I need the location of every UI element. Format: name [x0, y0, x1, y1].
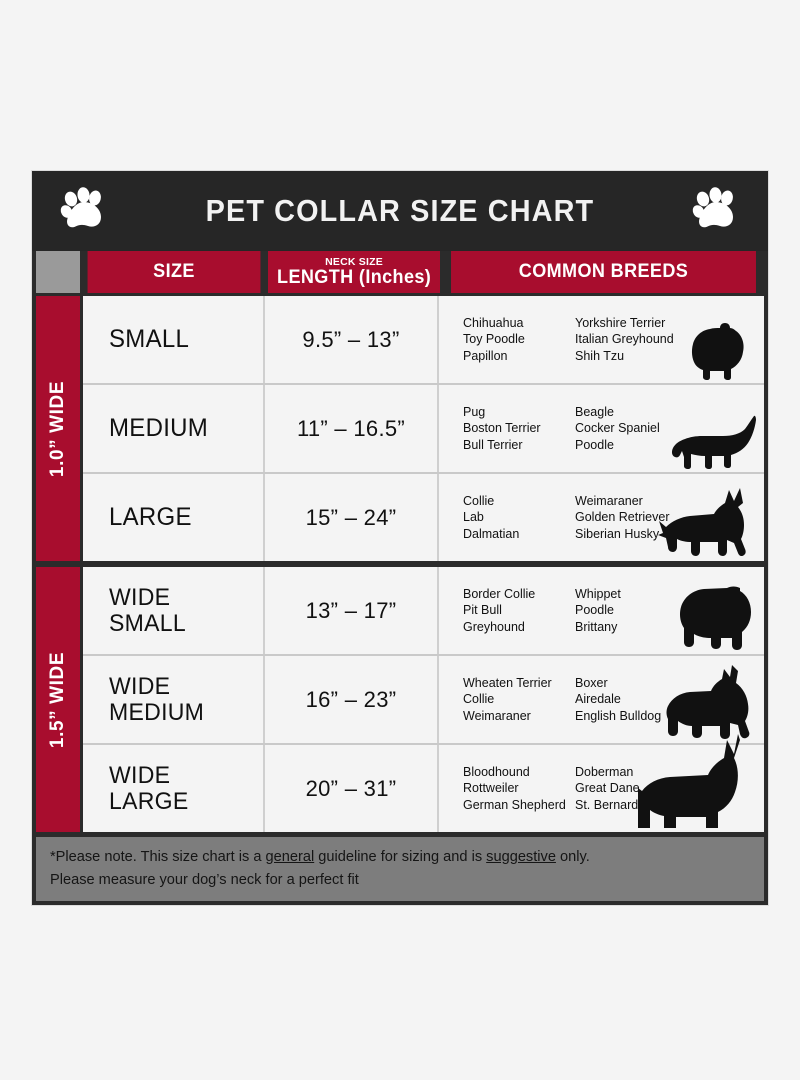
breed-item: English Bulldog [575, 708, 661, 725]
size-label-line: MEDIUM [109, 700, 204, 726]
cell-common-breeds: CollieLabDalmatianWeimaranerGolden Retri… [439, 474, 764, 561]
column-header-length: NECK SIZE LENGTH (Inches) [268, 251, 440, 293]
cell-neck-length: 15” – 24” [265, 474, 439, 561]
breed-item: Collie [463, 493, 575, 510]
breed-item: Papillon [463, 348, 575, 365]
cell-neck-length: 20” – 31” [265, 745, 439, 832]
breed-list: PugBoston TerrierBull Terrier [463, 404, 575, 454]
breed-item: Pug [463, 404, 575, 421]
breed-item: Great Dane [575, 780, 640, 797]
size-label-line: SMALL [109, 611, 186, 637]
size-label-line: WIDE [109, 585, 170, 611]
breed-item: German Shepherd [463, 797, 575, 814]
breed-item: Poodle [575, 602, 621, 619]
table-row: LARGE15” – 24”CollieLabDalmatianWeimaran… [83, 474, 764, 561]
breed-item: Collie [463, 691, 575, 708]
table-row: SMALL9.5” – 13”ChihuahuaToy PoodlePapill… [83, 296, 764, 385]
header-corner-cell [36, 251, 80, 293]
breed-list: ChihuahuaToy PoodlePapillon [463, 315, 575, 365]
paw-print-icon [58, 185, 110, 235]
breed-item: Shih Tzu [575, 348, 674, 365]
doberman-silhouette [638, 732, 758, 832]
breed-item: Dalmatian [463, 526, 575, 543]
group-width-label: 1.5” WIDE [36, 567, 80, 832]
breed-item: Whippet [575, 586, 621, 603]
breed-item: Yorkshire Terrier [575, 315, 674, 332]
cell-neck-length: 9.5” – 13” [265, 296, 439, 383]
footer-text-b: guideline for sizing and is [314, 849, 486, 865]
column-header-length-label: LENGTH (Inches) [277, 268, 431, 288]
size-label-line: WIDE [109, 674, 170, 700]
breed-item: Boston Terrier [463, 420, 575, 437]
cell-common-breeds: PugBoston TerrierBull TerrierBeagleCocke… [439, 385, 764, 472]
footer-underline-suggestive: suggestive [486, 849, 556, 865]
paw-print-icon [690, 185, 742, 235]
group-rows: WIDESMALL13” – 17”Border ColliePit BullG… [83, 567, 764, 832]
bulldog-silhouette [670, 580, 758, 654]
chart-header: PET COLLAR SIZE CHART [32, 171, 768, 251]
table-row: WIDELARGE20” – 31”BloodhoundRottweilerGe… [83, 745, 764, 832]
cell-common-breeds: BloodhoundRottweilerGerman ShepherdDober… [439, 745, 764, 832]
breed-item: Poodle [575, 437, 660, 454]
breed-item: Doberman [575, 764, 640, 781]
breed-list: CollieLabDalmatian [463, 493, 575, 543]
group-width-label: 1.0” WIDE [36, 296, 80, 561]
cell-neck-length: 13” – 17” [265, 567, 439, 654]
footer-note: *Please note. This size chart is a gener… [36, 837, 764, 901]
shepherd-silhouette [654, 485, 758, 561]
cell-common-breeds: Wheaten TerrierCollieWeimaranerBoxerAire… [439, 656, 764, 743]
table-body: 1.0” WIDESMALL9.5” – 13”ChihuahuaToy Poo… [32, 296, 768, 832]
size-label-line: MEDIUM [109, 415, 208, 442]
breed-item: Boxer [575, 675, 661, 692]
breed-item: Rottweiler [463, 780, 575, 797]
table-row: MEDIUM11” – 16.5”PugBoston TerrierBull T… [83, 385, 764, 474]
group-width-label-text: 1.5” WIDE [47, 651, 69, 747]
breed-item: St. Bernard [575, 797, 640, 814]
size-group-1: 1.0” WIDESMALL9.5” – 13”ChihuahuaToy Poo… [36, 296, 764, 561]
breed-list: DobermanGreat DaneSt. Bernard [575, 764, 640, 814]
breed-item: Pit Bull [463, 602, 575, 619]
cell-size: SMALL [83, 296, 265, 383]
cell-size: MEDIUM [83, 385, 265, 472]
breed-item: Bull Terrier [463, 437, 575, 454]
size-chart-card: PET COLLAR SIZE CHART SIZE NECK SIZE LEN… [31, 170, 769, 906]
cell-neck-length: 16” – 23” [265, 656, 439, 743]
size-label-line: LARGE [109, 789, 189, 815]
breed-list: BeagleCocker SpanielPoodle [575, 404, 660, 454]
cell-size: WIDELARGE [83, 745, 265, 832]
breed-list: WhippetPoodleBrittany [575, 586, 621, 636]
size-group-2: 1.5” WIDEWIDESMALL13” – 17”Border Collie… [36, 567, 764, 832]
breed-item: Toy Poodle [463, 331, 575, 348]
cell-size: WIDEMEDIUM [83, 656, 265, 743]
breed-item: Chihuahua [463, 315, 575, 332]
breed-item: Airedale [575, 691, 661, 708]
footer-underline-general: general [266, 849, 315, 865]
cell-size: WIDESMALL [83, 567, 265, 654]
breed-item: Wheaten Terrier [463, 675, 575, 692]
breed-item: Brittany [575, 619, 621, 636]
footer-note-line2: Please measure your dog’s neck for a per… [50, 869, 764, 892]
column-header-breeds: COMMON BREEDS [451, 251, 756, 293]
boxer-silhouette [660, 663, 758, 743]
group-width-label-text: 1.0” WIDE [47, 380, 69, 476]
footer-text-a: *Please note. This size chart is a [50, 849, 266, 865]
table-row: WIDESMALL13” – 17”Border ColliePit BullG… [83, 567, 764, 656]
breed-list: Wheaten TerrierCollieWeimaraner [463, 675, 575, 725]
footer-note-line1: *Please note. This size chart is a gener… [50, 846, 764, 869]
size-label-line: WIDE [109, 763, 170, 789]
breed-item: Beagle [575, 404, 660, 421]
breed-list: BoxerAiredaleEnglish Bulldog [575, 675, 661, 725]
cell-size: LARGE [83, 474, 265, 561]
size-label-line: SMALL [109, 326, 189, 353]
cell-common-breeds: Border ColliePit BullGreyhoundWhippetPoo… [439, 567, 764, 654]
breed-item: Greyhound [463, 619, 575, 636]
column-header-size: SIZE [88, 251, 261, 293]
breed-item: Weimaraner [463, 708, 575, 725]
group-rows: SMALL9.5” – 13”ChihuahuaToy PoodlePapill… [83, 296, 764, 561]
breed-item: Italian Greyhound [575, 331, 674, 348]
cell-common-breeds: ChihuahuaToy PoodlePapillonYorkshire Ter… [439, 296, 764, 383]
cell-neck-length: 11” – 16.5” [265, 385, 439, 472]
size-label-line: LARGE [109, 504, 192, 531]
pomeranian-silhouette [680, 317, 758, 383]
breed-list: Yorkshire TerrierItalian GreyhoundShih T… [575, 315, 674, 365]
breed-item: Border Collie [463, 586, 575, 603]
breed-list: Border ColliePit BullGreyhound [463, 586, 575, 636]
beagle-silhouette [666, 410, 758, 472]
breed-item: Lab [463, 509, 575, 526]
table-column-headers: SIZE NECK SIZE LENGTH (Inches) COMMON BR… [32, 251, 768, 293]
breed-list: BloodhoundRottweilerGerman Shepherd [463, 764, 575, 814]
footer-text-c: only. [556, 849, 590, 865]
page-title: PET COLLAR SIZE CHART [206, 193, 595, 229]
breed-item: Bloodhound [463, 764, 575, 781]
breed-item: Cocker Spaniel [575, 420, 660, 437]
